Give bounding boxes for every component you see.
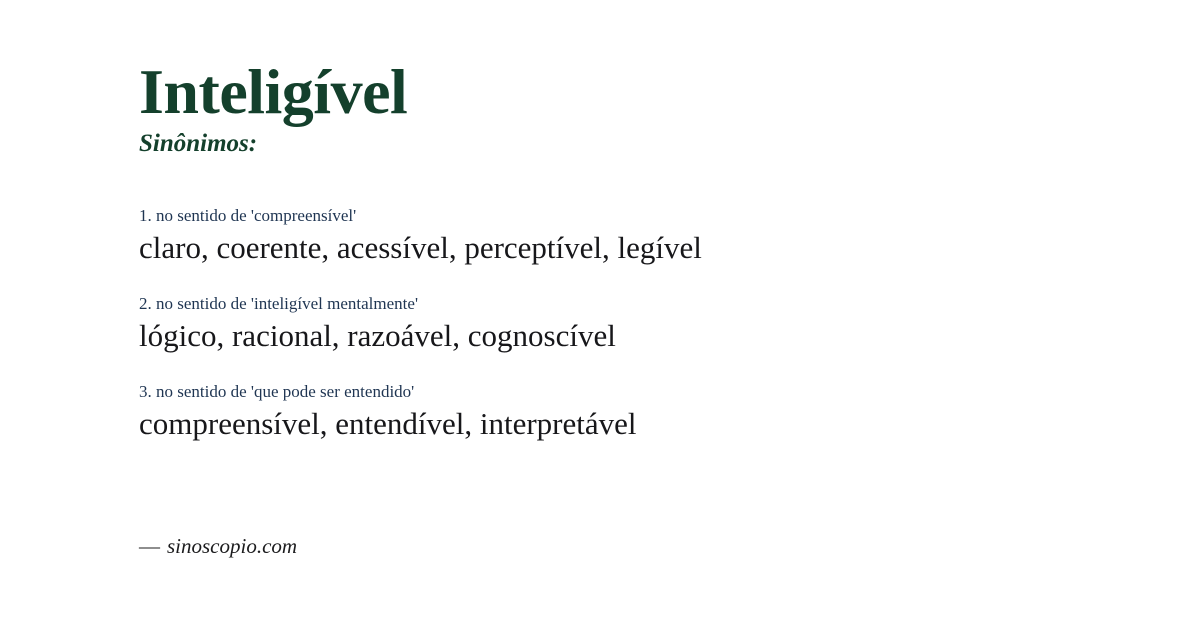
attribution: —sinoscopio.com bbox=[139, 534, 297, 559]
card-header: Inteligível Sinônimos: bbox=[139, 60, 407, 158]
section-label-synonyms: Sinônimos: bbox=[139, 130, 407, 158]
sense-synonyms: claro, coerente, acessível, perceptível,… bbox=[139, 229, 1140, 267]
sense-label: 1. no sentido de 'compreensível' bbox=[139, 205, 1140, 226]
sense-entry: 2. no sentido de 'inteligível mentalment… bbox=[139, 293, 1140, 355]
thesaurus-card: Inteligível Sinônimos: 1. no sentido de … bbox=[0, 0, 1200, 628]
sense-entry: 3. no sentido de 'que pode ser entendido… bbox=[139, 381, 1140, 443]
sense-label: 2. no sentido de 'inteligível mentalment… bbox=[139, 293, 1140, 314]
em-dash-icon: — bbox=[139, 534, 160, 558]
page-title: Inteligível bbox=[139, 60, 407, 124]
sense-list: 1. no sentido de 'compreensível' claro, … bbox=[139, 205, 1140, 443]
sense-label: 3. no sentido de 'que pode ser entendido… bbox=[139, 381, 1140, 402]
sense-synonyms: lógico, racional, razoável, cognoscível bbox=[139, 317, 1140, 355]
sense-synonyms: compreensível, entendível, interpretável bbox=[139, 405, 1140, 443]
sense-entry: 1. no sentido de 'compreensível' claro, … bbox=[139, 205, 1140, 267]
source-name: sinoscopio.com bbox=[167, 534, 297, 558]
